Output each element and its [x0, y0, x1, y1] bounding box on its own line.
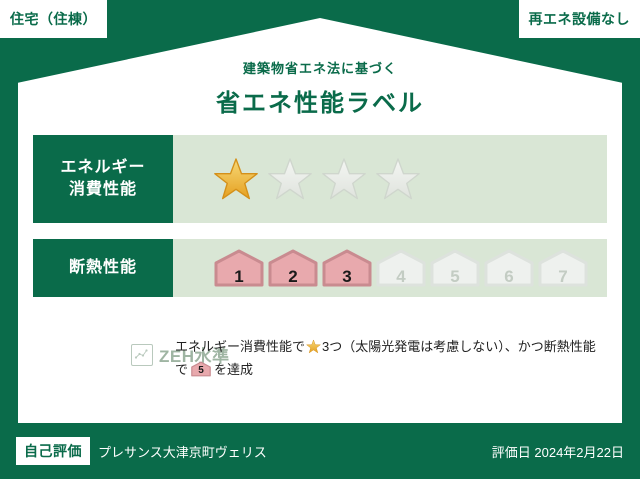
energy-label-line2: 消費性能 [69, 179, 137, 201]
zeh-desc-text-4: を達成 [214, 362, 253, 377]
insulation-performance-row: 断熱性能 1234567 [33, 239, 607, 297]
insulation-level-number: 5 [190, 366, 212, 376]
page-title: 省エネ性能ラベル [0, 83, 640, 118]
insulation-level-number: 1 [213, 268, 265, 285]
footer-left-group: 自己評価 プレサンス大津京町ヴェリス [16, 437, 267, 465]
zeh-standard-note: ZEH水準 エネルギー消費性能で3つ（太陽光発電は考慮しない）、かつ断熱性能で5… [33, 336, 607, 382]
label-footer: 自己評価 プレサンス大津京町ヴェリス 評価日 2024年2月22日 [0, 423, 640, 479]
star-empty-icon [267, 156, 313, 202]
insulation-level-active: 2 [267, 248, 319, 288]
insulation-level-number: 6 [483, 268, 535, 285]
energy-performance-label-box: エネルギー 消費性能 [33, 135, 173, 223]
insulation-level-inactive: 5 [429, 248, 481, 288]
insulation-label-line1: 断熱性能 [69, 257, 137, 279]
insulation-level-number: 7 [537, 268, 589, 285]
insulation-level-active: 3 [321, 248, 373, 288]
renewable-energy-tag: 再エネ設備なし [519, 0, 640, 38]
zeh-mark-icon [131, 344, 153, 366]
zeh-desc-text-1: エネルギー消費性能で [175, 339, 305, 354]
star-filled-icon [213, 156, 259, 202]
insulation-level-number: 5 [429, 268, 481, 285]
insulation-level-inactive: 4 [375, 248, 427, 288]
zeh-desc-text-2: 3つ（太陽光発電 [322, 339, 420, 354]
insulation-performance-label-box: 断熱性能 [33, 239, 173, 297]
insulation-level-inactive: 7 [537, 248, 589, 288]
title-subtitle: 建築物省エネ法に基づく [0, 58, 640, 77]
star-filled-icon [306, 339, 321, 354]
insulation-level-active: 1 [213, 248, 265, 288]
star-empty-icon [375, 156, 421, 202]
insulation-level-scale: 1234567 [213, 248, 589, 288]
star-empty-icon [321, 156, 367, 202]
energy-star-rating [173, 135, 607, 223]
insulation-level-inactive: 6 [483, 248, 535, 288]
insulation-level-inline-badge: 5 [190, 361, 212, 377]
energy-label-line1: エネルギー [60, 157, 145, 179]
insulation-level-number: 3 [321, 268, 373, 285]
building-name: プレサンス大津京町ヴェリス [98, 442, 267, 461]
zeh-brand: ZEH水準 [33, 336, 161, 367]
zeh-description: エネルギー消費性能で3つ（太陽光発電は考慮しない）、かつ断熱性能で5を達成 [161, 336, 607, 382]
evaluation-type-badge: 自己評価 [16, 437, 90, 465]
energy-performance-row: エネルギー 消費性能 [33, 135, 607, 223]
evaluation-date: 評価日 2024年2月22日 [492, 442, 624, 461]
insulation-scale-body: 1234567 [173, 239, 607, 297]
label-title-block: 建築物省エネ法に基づく 省エネ性能ラベル [0, 58, 640, 118]
energy-performance-label: 住宅（住棟） 再エネ設備なし 建築物省エネ法に基づく 省エネ性能ラベル エネルギ… [0, 0, 640, 479]
insulation-level-number: 2 [267, 268, 319, 285]
insulation-level-number: 4 [375, 268, 427, 285]
building-type-tag: 住宅（住棟） [0, 0, 107, 38]
